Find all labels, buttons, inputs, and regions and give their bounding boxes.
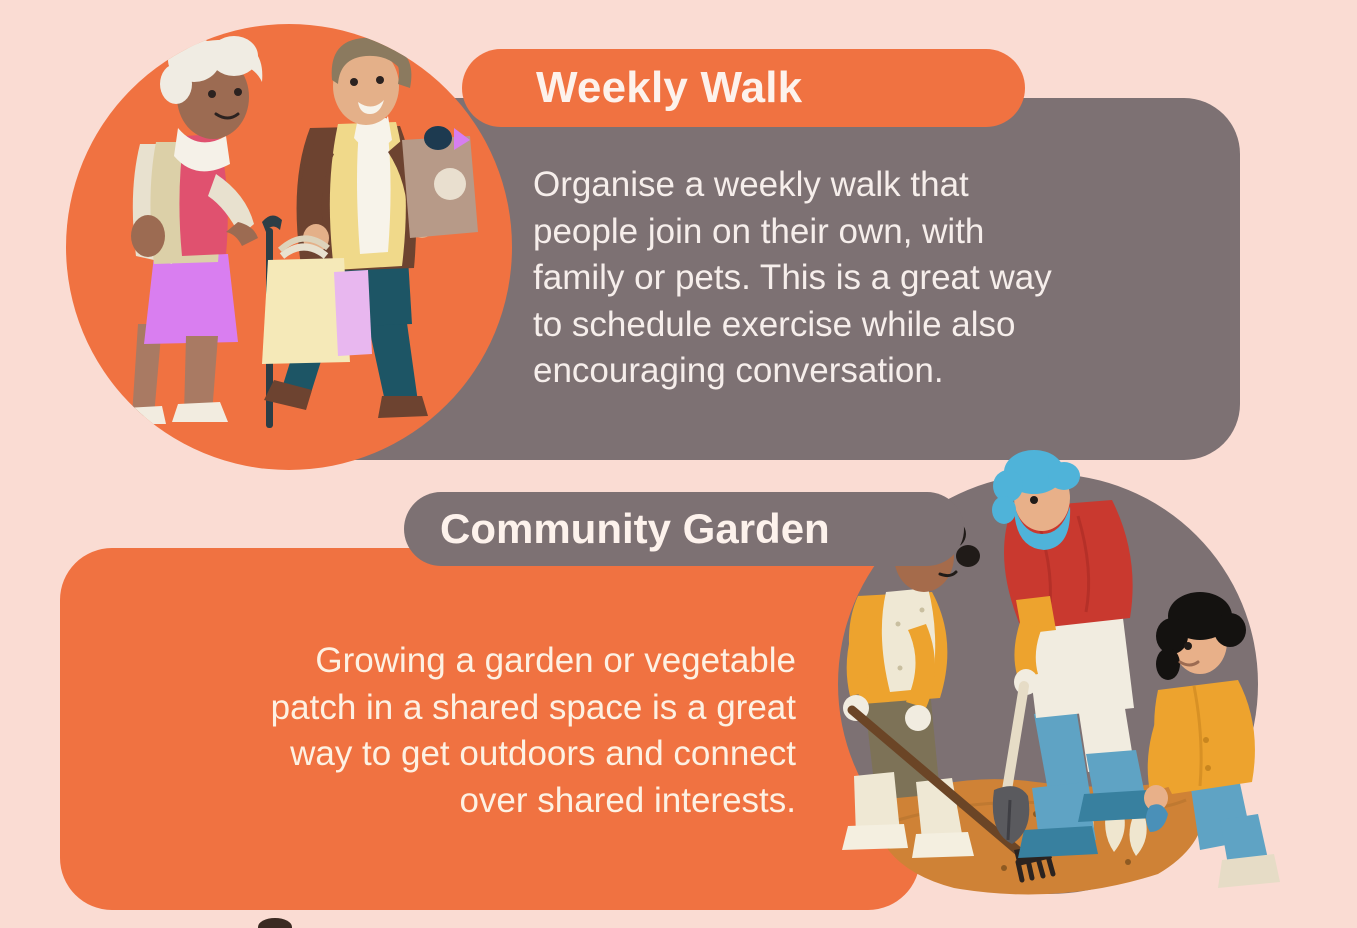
community-garden-title-pill: Community Garden bbox=[404, 492, 964, 566]
weekly-walk-title-pill: Weekly Walk bbox=[462, 49, 1025, 127]
weekly-walk-title: Weekly Walk bbox=[536, 63, 802, 113]
weekly-walk-body-text: Organise a weekly walk that people join … bbox=[533, 162, 1143, 395]
weekly-walk-circle-backdrop bbox=[66, 24, 512, 470]
community-garden-title: Community Garden bbox=[440, 505, 830, 553]
next-section-peek bbox=[258, 918, 292, 928]
community-garden-body-text: Growing a garden or vegetable patch in a… bbox=[186, 638, 796, 824]
infographic-canvas: Weekly Walk Organise a weekly walk that … bbox=[0, 0, 1357, 928]
